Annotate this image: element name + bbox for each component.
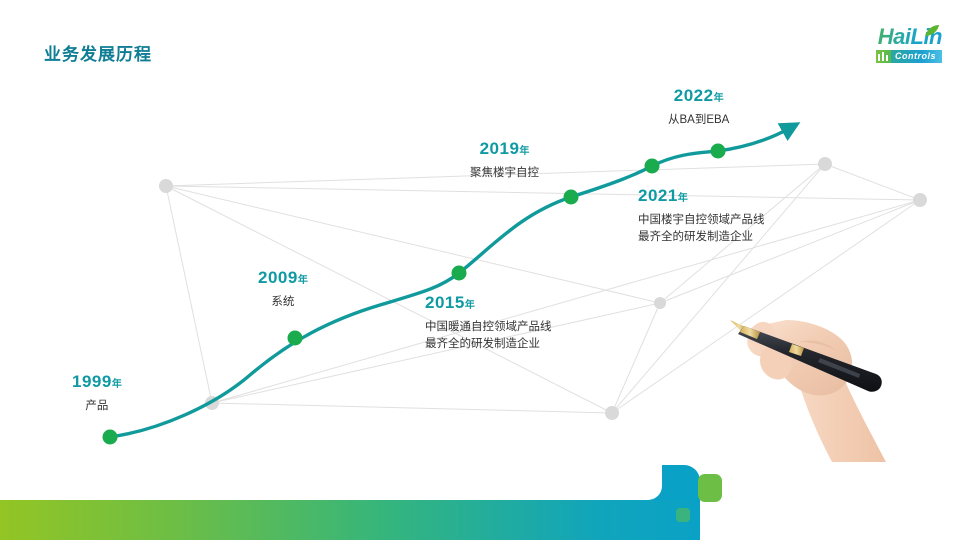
milestone-desc: 从BA到EBA bbox=[668, 112, 729, 129]
milestone-dot-2009[interactable] bbox=[288, 331, 303, 346]
milestone-dot-2022[interactable] bbox=[711, 144, 726, 159]
milestone-2022: 2022年 从BA到EBA bbox=[668, 86, 729, 129]
slide-canvas: 业务发展历程 HaiLin Controls 1999年 产品 2009年 系统 bbox=[0, 0, 960, 540]
green-rounded-square-small bbox=[676, 508, 690, 522]
milestone-dot-2019[interactable] bbox=[564, 190, 579, 205]
milestone-1999: 1999年 产品 bbox=[72, 372, 122, 415]
milestone-dot-2021[interactable] bbox=[645, 159, 660, 174]
milestone-dot-1999[interactable] bbox=[103, 430, 118, 445]
milestone-desc: 系统 bbox=[258, 294, 308, 311]
milestone-desc: 产品 bbox=[72, 398, 122, 415]
milestone-desc: 聚焦楼宇自控 bbox=[470, 165, 539, 182]
milestone-year: 2019年 bbox=[470, 139, 539, 161]
milestone-year: 2009年 bbox=[258, 268, 308, 290]
milestone-desc-line2: 最齐全的研发制造企业 bbox=[425, 336, 552, 353]
milestone-dot-2015[interactable] bbox=[452, 266, 467, 281]
milestone-year: 2021年 bbox=[638, 186, 765, 208]
milestone-year: 2022年 bbox=[668, 86, 729, 108]
milestone-year: 1999年 bbox=[72, 372, 122, 394]
bottom-gradient-bar bbox=[0, 500, 700, 540]
milestone-2019: 2019年 聚焦楼宇自控 bbox=[470, 139, 539, 182]
milestone-year: 2015年 bbox=[425, 293, 552, 315]
milestone-2009: 2009年 系统 bbox=[258, 268, 308, 311]
milestone-2015: 2015年 中国暖通自控领域产品线 最齐全的研发制造企业 bbox=[425, 293, 552, 353]
bottom-notch-cutout bbox=[640, 464, 662, 500]
growth-curve-line bbox=[110, 128, 790, 437]
milestone-desc-line1: 中国楼宇自控领域产品线 bbox=[638, 212, 765, 229]
milestone-desc-line2: 最齐全的研发制造企业 bbox=[638, 229, 765, 246]
milestone-2021: 2021年 中国楼宇自控领域产品线 最齐全的研发制造企业 bbox=[638, 186, 765, 246]
hand-holding-pen-illustration bbox=[700, 282, 950, 462]
milestone-desc-line1: 中国暖通自控领域产品线 bbox=[425, 319, 552, 336]
green-rounded-square-large bbox=[698, 474, 722, 502]
